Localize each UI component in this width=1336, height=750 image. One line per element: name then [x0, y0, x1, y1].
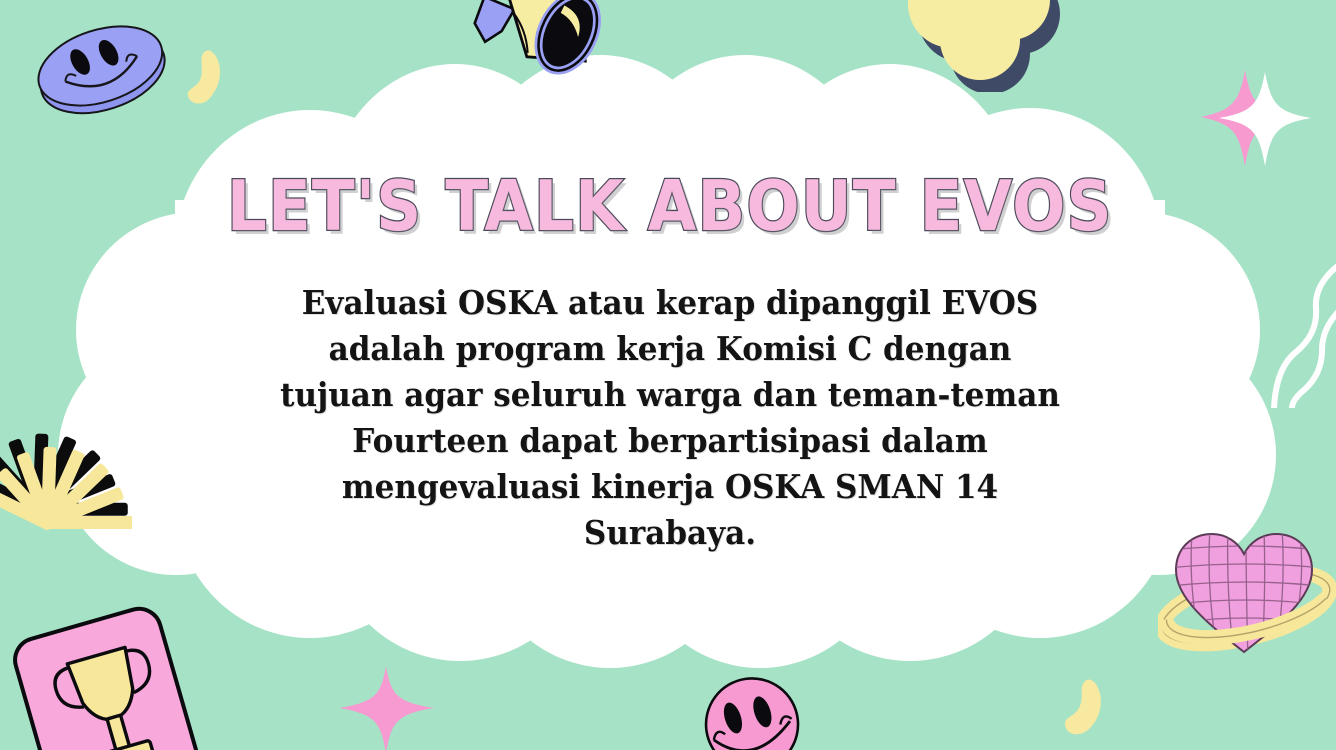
megaphone-sticker — [440, 0, 630, 88]
slide-canvas: LET'S TALK ABOUT EVOS Evaluasi OSKA atau… — [0, 0, 1336, 750]
body-line: Surabaya. — [584, 513, 756, 552]
trophy-card-sticker — [8, 592, 238, 750]
blue-smiley-sticker — [18, 8, 183, 123]
white-squiggle-sticker — [1248, 258, 1336, 408]
yellow-cloud-sticker — [892, 0, 1072, 92]
starburst-fan-sticker — [0, 415, 132, 560]
body-paragraph: Evaluasi OSKA atau kerap dipanggil EVOSa… — [271, 280, 1070, 556]
yellow-crescent-sticker-top — [182, 48, 228, 108]
body-line: tujuan agar seluruh warga dan teman-tema… — [280, 375, 1060, 414]
pink-sparkle-sticker — [334, 662, 444, 750]
slide-content: LET'S TALK ABOUT EVOS Evaluasi OSKA atau… — [245, 170, 1095, 556]
pink-white-sparkle-sticker — [1193, 62, 1323, 177]
headline-wrap: LET'S TALK ABOUT EVOS — [245, 170, 1095, 244]
body-line: Fourteen dapat berpartisipasi dalam — [352, 421, 987, 460]
pink-smiley-sticker — [690, 672, 820, 750]
yellow-crescent-sticker-bottom — [1058, 676, 1110, 740]
body-line: adalah program kerja Komisi C dengan — [329, 329, 1012, 368]
disco-heart-planet-sticker — [1158, 520, 1336, 670]
body-line: Evaluasi OSKA atau kerap dipanggil EVOS — [302, 283, 1038, 322]
page-title: LET'S TALK ABOUT EVOS — [227, 172, 1113, 241]
body-line: mengevaluasi kinerja OSKA SMAN 14 — [342, 467, 998, 506]
